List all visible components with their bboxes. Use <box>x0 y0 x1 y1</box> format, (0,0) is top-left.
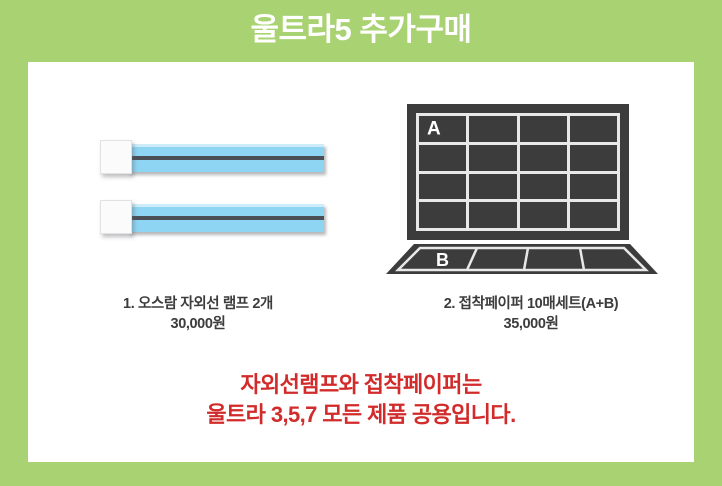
paper-panel-label: A <box>427 119 441 138</box>
product-uv-lamp: 1. 오스람 자외선 램프 2개 30,000원 <box>28 62 368 252</box>
uv-lamp-icon <box>100 200 324 234</box>
uv-lamp-figure <box>28 62 368 252</box>
paper-base-label: B <box>436 250 449 270</box>
content-card: 1. 오스람 자외선 램프 2개 30,000원 A <box>28 62 694 462</box>
lamp-tube-divider <box>128 156 324 160</box>
paper-cell <box>419 202 466 228</box>
page-title: 울트라5 추가구매 <box>0 8 722 52</box>
adhesive-paper-caption-text: 2. 접착페이퍼 10매세트(A+B) <box>444 296 618 312</box>
paper-cell <box>419 174 466 200</box>
lamp-tube <box>128 144 324 172</box>
adhesive-paper-base-shape: B <box>386 244 658 274</box>
paper-cell: A <box>419 116 466 142</box>
lamp-tube-gloss <box>128 144 324 147</box>
paper-cell <box>520 116 567 142</box>
compatibility-note: 자외선램프와 접착페이퍼는 울트라 3,5,7 모든 제품 공용입니다. <box>28 370 694 430</box>
paper-cell <box>469 116 516 142</box>
paper-cell <box>570 145 617 171</box>
adhesive-paper-figure: A <box>368 62 694 252</box>
adhesive-paper-price: 35,000원 <box>368 314 694 334</box>
paper-cell <box>570 116 617 142</box>
uv-lamp-caption-text: 1. 오스람 자외선 램프 2개 <box>123 296 273 312</box>
compatibility-note-line-1: 자외선램프와 접착페이퍼는 <box>28 370 694 400</box>
compatibility-note-line-2: 울트라 3,5,7 모든 제품 공용입니다. <box>28 400 694 430</box>
paper-cell <box>419 145 466 171</box>
lamp-tube-gloss <box>128 204 324 207</box>
paper-cell <box>469 145 516 171</box>
uv-lamp-price: 30,000원 <box>28 314 368 334</box>
paper-cell <box>570 174 617 200</box>
paper-cell <box>469 202 516 228</box>
paper-cell <box>570 202 617 228</box>
paper-cell <box>469 174 516 200</box>
adhesive-paper-caption: 2. 접착페이퍼 10매세트(A+B) 35,000원 <box>368 294 694 334</box>
promo-banner: 울트라5 추가구매 <box>0 0 722 486</box>
lamp-tube <box>128 204 324 232</box>
uv-lamp-caption: 1. 오스람 자외선 램프 2개 30,000원 <box>28 294 368 334</box>
paper-cell <box>520 145 567 171</box>
lamp-cap <box>100 140 132 174</box>
paper-cell <box>520 202 567 228</box>
adhesive-paper-panel: A <box>407 104 629 240</box>
lamp-cap <box>100 200 132 234</box>
adhesive-paper-grid: A <box>416 113 620 231</box>
product-adhesive-paper: A <box>368 62 694 252</box>
paper-cell <box>520 174 567 200</box>
adhesive-paper-icon: A <box>386 104 658 284</box>
adhesive-paper-base: B <box>386 244 658 274</box>
lamp-tube-divider <box>128 216 324 220</box>
uv-lamp-icon <box>100 140 324 174</box>
